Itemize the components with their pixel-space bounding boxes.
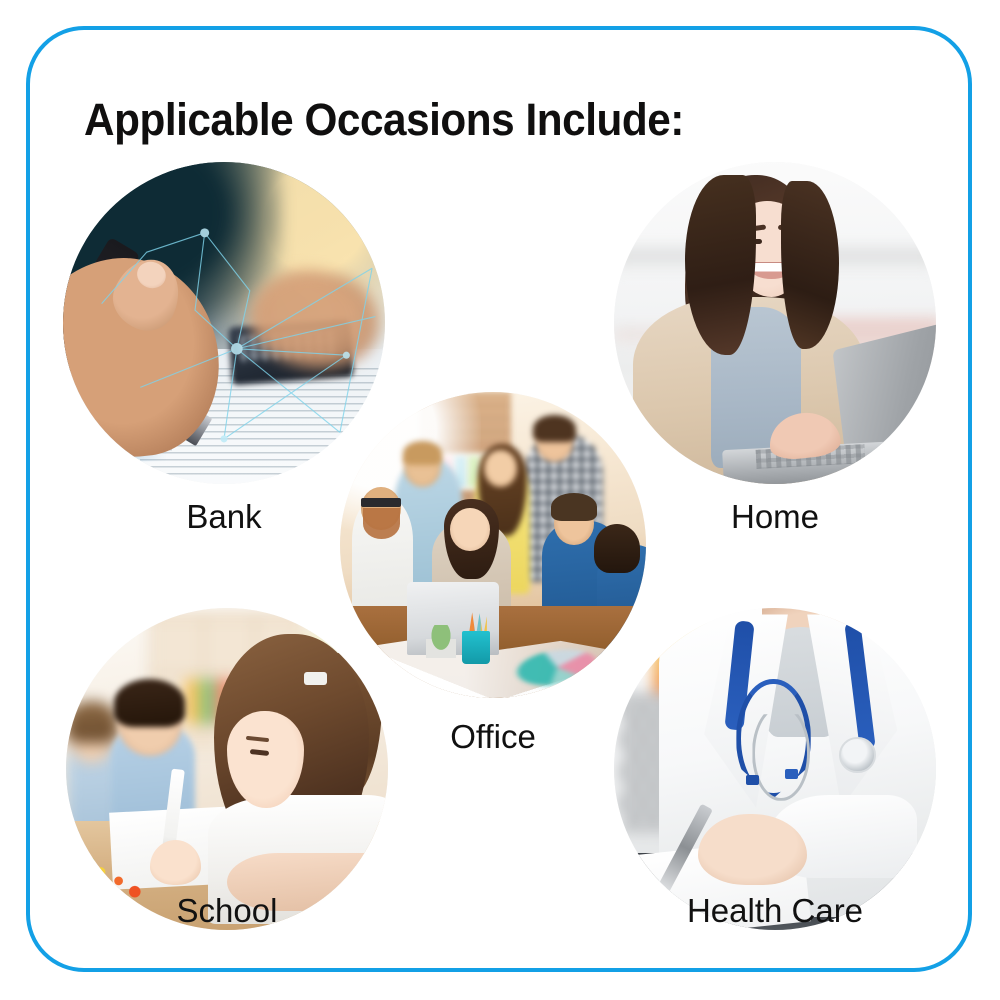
occasion-home: Home (614, 162, 936, 542)
occasion-office: Office (340, 392, 646, 762)
office-person-yellow-top-head (484, 450, 518, 487)
office-pencil-cup (462, 631, 490, 665)
occasion-home-label: Home (614, 498, 936, 536)
occasion-health-care-label: Health Care (614, 892, 936, 930)
office-person-center-head (450, 508, 490, 551)
office-person-glasses-beard (363, 508, 400, 539)
occasion-school-label: School (66, 892, 388, 930)
health-care-stethoscope-inner-tube (752, 705, 810, 801)
infographic-canvas: Applicable Occasions Include: (0, 0, 1000, 1000)
bank-network-overlay (63, 162, 385, 484)
school-child-background-left-hair (66, 701, 118, 743)
office-person-right-hair (594, 524, 640, 573)
office-photo (340, 392, 646, 698)
school-child-background-center-hair (114, 679, 185, 727)
bank-photo (63, 162, 385, 484)
occasion-bank-label: Bank (63, 498, 385, 536)
office-person-standing-left-hair (403, 441, 443, 465)
office-person-plaid-shirt-hair (533, 415, 576, 443)
home-photo (614, 162, 936, 484)
health-care-stethoscope-clip-right (785, 769, 798, 779)
office-person-blue-sweater-hair (551, 493, 597, 521)
health-care-stethoscope-clip-left (746, 775, 759, 785)
health-care-photo (614, 608, 936, 930)
occasion-bank: Bank (63, 162, 385, 542)
page-title: Applicable Occasions Include: (84, 94, 684, 146)
occasion-health-care: Health Care (614, 608, 936, 948)
office-person-glasses-eyewear (361, 498, 401, 507)
school-girl-hair-tie (304, 672, 327, 685)
health-care-stethoscope-chestpiece (839, 737, 875, 773)
occasion-office-label: Office (340, 718, 646, 756)
office-potted-plant (426, 625, 457, 659)
